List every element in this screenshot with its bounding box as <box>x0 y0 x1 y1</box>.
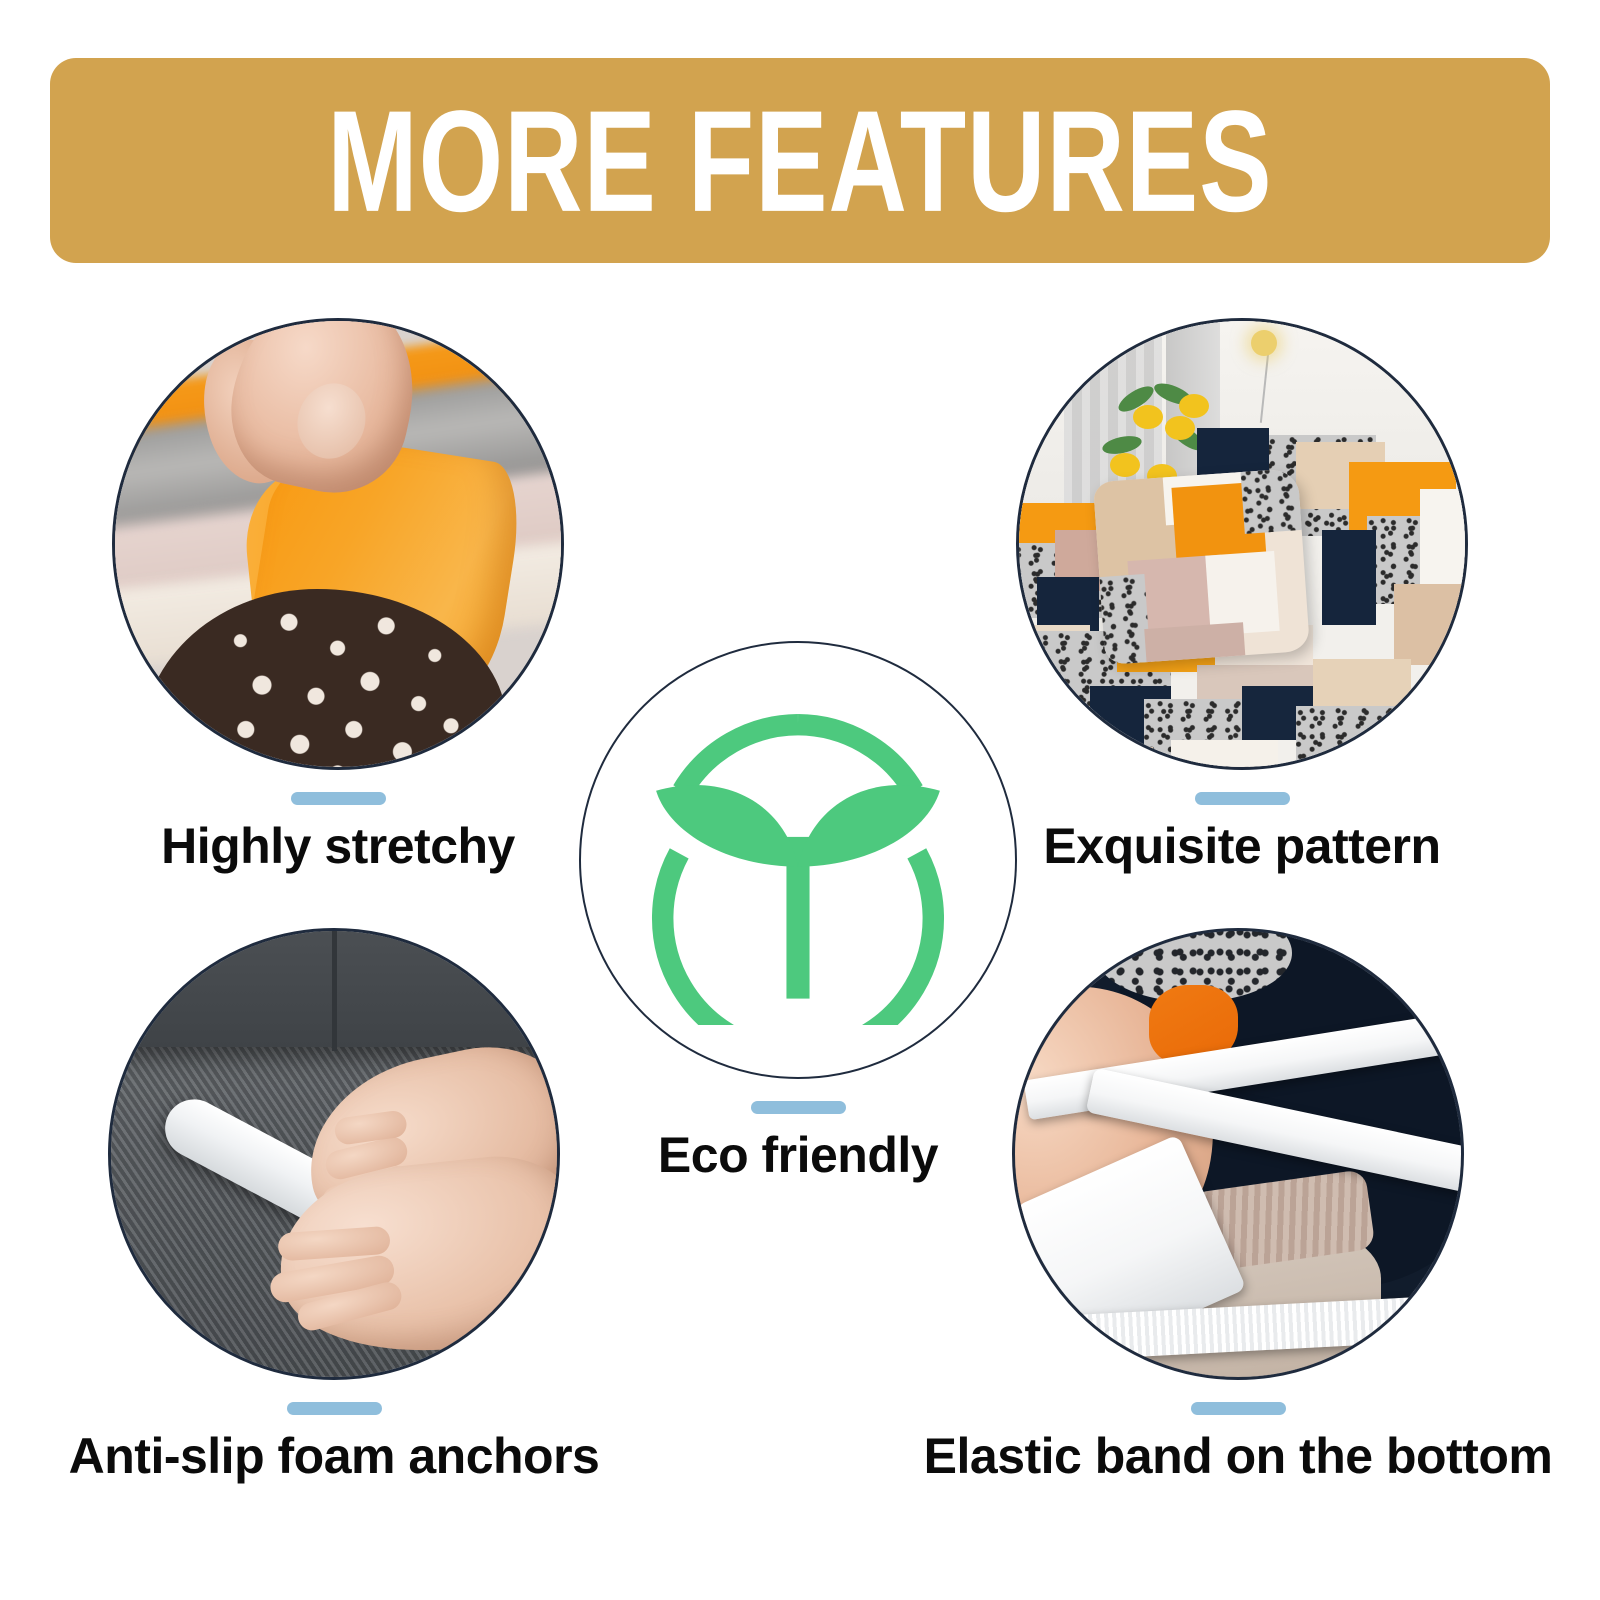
photo-anti-slip-foam-anchors <box>108 928 560 1380</box>
feature-anti-slip-foam-anchors: Anti-slip foam anchors <box>108 928 560 1483</box>
feature-label: Eco friendly <box>658 1128 938 1182</box>
feature-eco-friendly: Eco friendly <box>579 641 1017 1182</box>
feature-exquisite-pattern: Exquisite pattern <box>1016 318 1468 873</box>
feature-elastic-band-on-the-bottom: Elastic band on the bottom <box>1012 928 1464 1483</box>
photo-elastic-band-on-the-bottom <box>1012 928 1464 1380</box>
elastic-band-illustration <box>1015 931 1461 1377</box>
stretch-fabric-illustration <box>115 321 561 767</box>
feature-label: Exquisite pattern <box>1043 819 1440 873</box>
plant-sprout-icon <box>633 695 963 1025</box>
feature-label: Highly stretchy <box>161 819 515 873</box>
caption-exquisite-pattern: Exquisite pattern <box>1016 770 1468 873</box>
divider-dash <box>1195 792 1290 805</box>
feature-label: Anti-slip foam anchors <box>69 1429 600 1483</box>
page-title: MORE FEATURES <box>327 88 1272 232</box>
divider-dash <box>291 792 386 805</box>
feature-highly-stretchy: Highly stretchy <box>112 318 564 873</box>
header-banner: MORE FEATURES <box>50 58 1550 263</box>
feature-label: Elastic band on the bottom <box>924 1429 1553 1483</box>
caption-eco-friendly: Eco friendly <box>579 1079 1017 1182</box>
photo-highly-stretchy <box>112 318 564 770</box>
foam-anchor-illustration <box>111 931 557 1377</box>
caption-elastic-band-on-the-bottom: Elastic band on the bottom <box>1012 1380 1464 1483</box>
photo-exquisite-pattern <box>1016 318 1468 770</box>
caption-anti-slip-foam-anchors: Anti-slip foam anchors <box>108 1380 560 1483</box>
eco-friendly-badge <box>579 641 1017 1079</box>
patchwork-sofa-illustration <box>1019 321 1465 767</box>
divider-dash <box>287 1402 382 1415</box>
divider-dash <box>751 1101 846 1114</box>
caption-highly-stretchy: Highly stretchy <box>112 770 564 873</box>
divider-dash <box>1191 1402 1286 1415</box>
